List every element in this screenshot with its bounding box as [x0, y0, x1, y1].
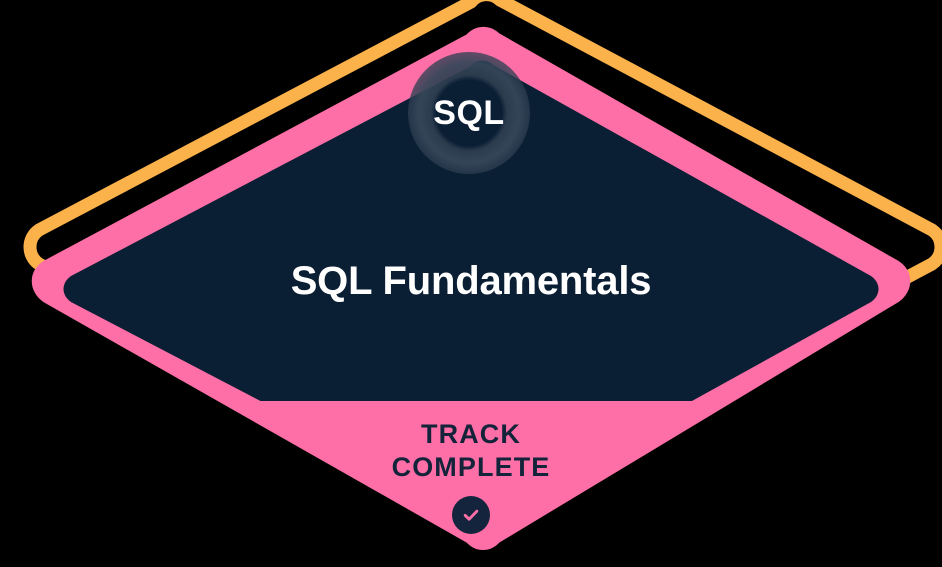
completion-block: TRACK COMPLETE	[0, 418, 942, 534]
status-line-primary: TRACK	[0, 418, 942, 451]
page-title: SQL Fundamentals	[0, 258, 942, 304]
check-icon	[452, 496, 490, 534]
status-line-secondary: COMPLETE	[0, 451, 942, 484]
emblem-label: SQL	[433, 96, 504, 130]
track-badge[interactable]: SQL SQL Fundamentals TRACK COMPLETE	[0, 0, 942, 567]
status-badge: TRACK COMPLETE	[0, 418, 942, 484]
sql-emblem-icon: SQL	[408, 52, 530, 174]
